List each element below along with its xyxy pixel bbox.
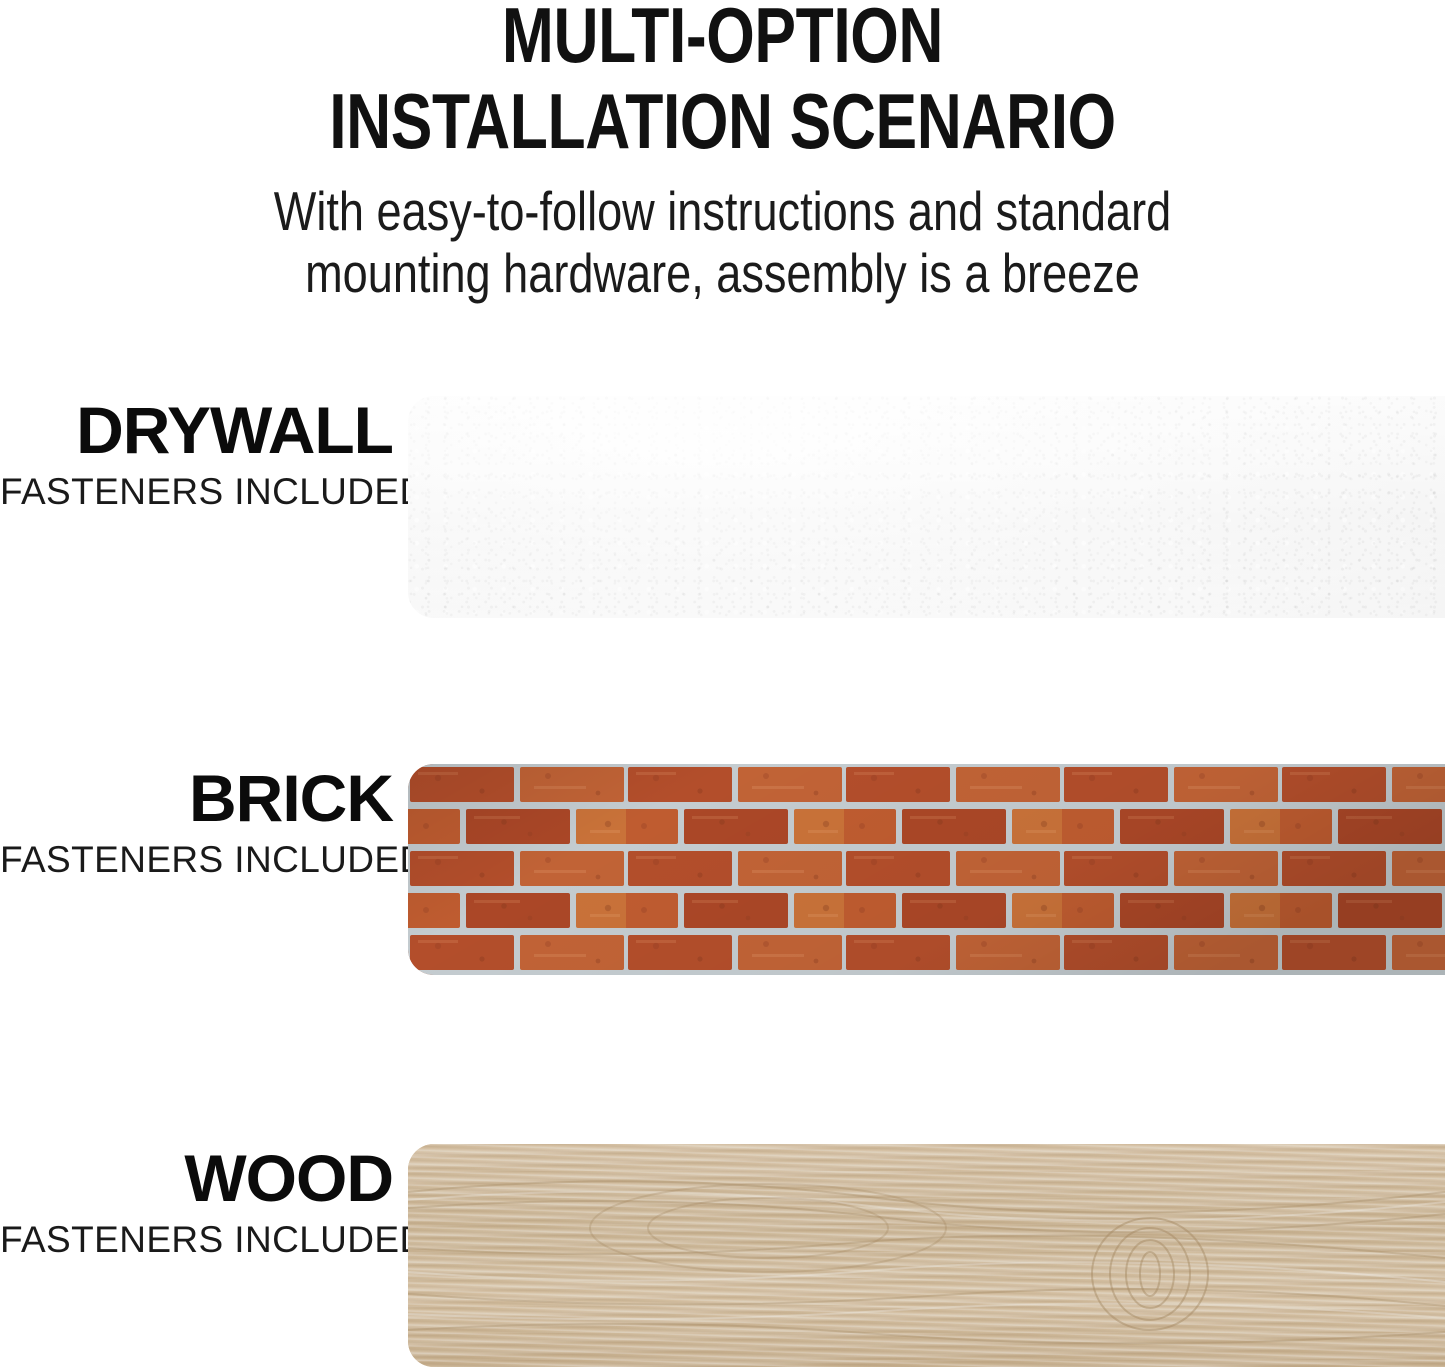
section-brick: BRICK FASTENERS INCLUDED	[0, 764, 1445, 979]
material-name-wood: WOOD	[0, 1144, 393, 1214]
page-subtitle-line-2: mounting hardware, assembly is a breeze	[130, 246, 1315, 301]
material-name-brick: BRICK	[0, 764, 393, 834]
page-subtitle-line-1: With easy-to-follow instructions and sta…	[130, 184, 1315, 239]
fasteners-note-wood: FASTENERS INCLUDED	[0, 1220, 393, 1261]
fasteners-note-drywall: FASTENERS INCLUDED	[0, 472, 393, 513]
wood-label-group: WOOD FASTENERS INCLUDED	[0, 1144, 393, 1261]
fasteners-note-brick: FASTENERS INCLUDED	[0, 840, 393, 881]
brick-texture-swatch	[408, 764, 1445, 975]
drywall-shading-overlay	[408, 396, 1445, 618]
section-wood: WOOD FASTENERS INCLUDED	[0, 1144, 1445, 1367]
wood-texture-swatch	[408, 1144, 1445, 1367]
brick-pattern	[408, 764, 1445, 975]
drywall-texture-swatch	[408, 396, 1445, 618]
brick-label-group: BRICK FASTENERS INCLUDED	[0, 764, 393, 881]
page-title-line-2: INSTALLATION SCENARIO	[145, 82, 1301, 160]
material-name-drywall: DRYWALL	[0, 396, 393, 466]
header-block: MULTI-OPTION INSTALLATION SCENARIO With …	[0, 0, 1445, 320]
page-title-line-1: MULTI-OPTION	[145, 0, 1301, 74]
drywall-label-group: DRYWALL FASTENERS INCLUDED	[0, 396, 393, 513]
wood-grain-knots	[408, 1144, 1445, 1367]
section-drywall: DRYWALL FASTENERS INCLUDED	[0, 396, 1445, 628]
